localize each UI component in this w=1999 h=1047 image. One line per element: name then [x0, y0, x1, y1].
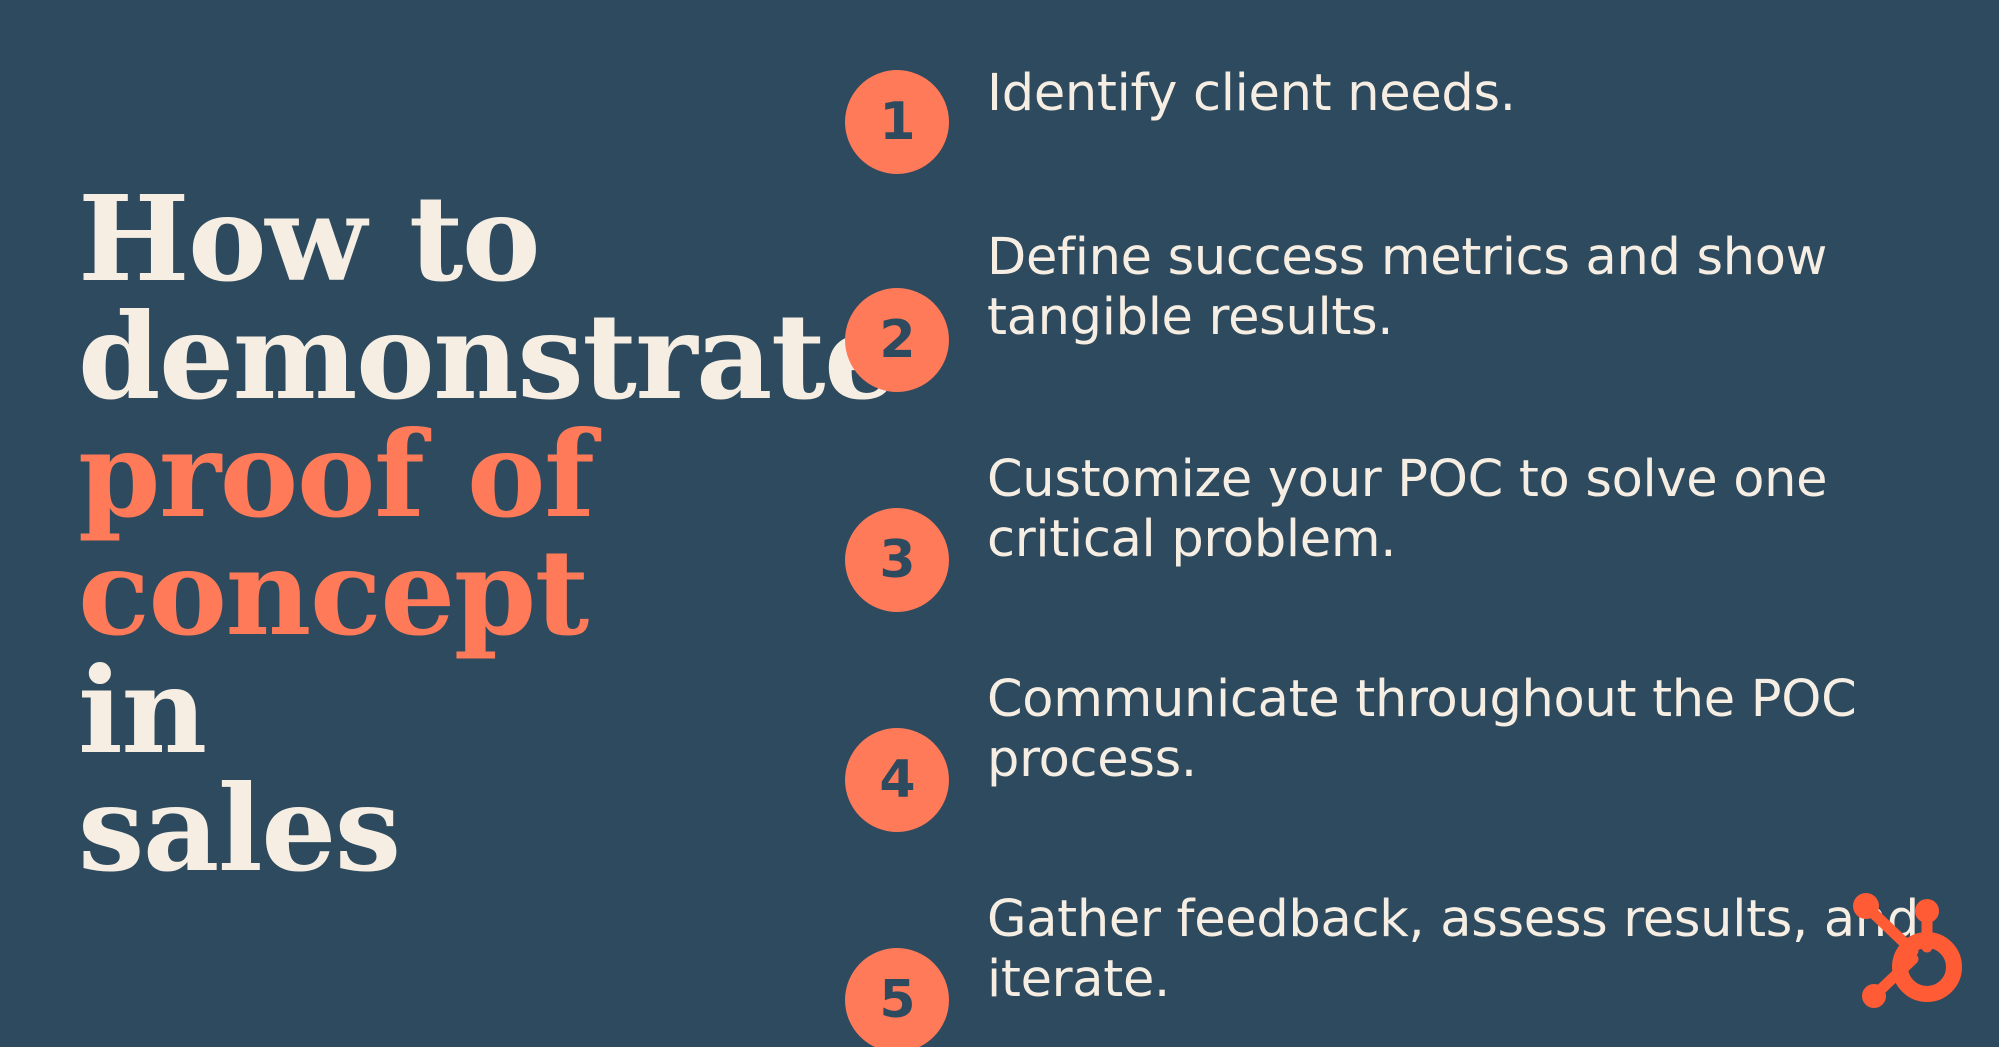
title-text: How to demonstrate proof of concept in s… [78, 180, 718, 888]
step-number-badge: 1 [845, 70, 949, 174]
step-number-badge: 5 [845, 948, 949, 1047]
step-text: Identify client needs. [949, 64, 1925, 124]
step-text: Customize your POC to solve one critical… [949, 448, 1925, 570]
list-item: 4 Communicate throughout the POC process… [845, 668, 1925, 832]
list-item: 3 Customize your POC to solve one critic… [845, 448, 1925, 612]
step-text: Gather feedback, assess results, and ite… [949, 888, 1925, 1010]
list-item: 2 Define success metrics and show tangib… [845, 226, 1925, 392]
page-title: How to demonstrate proof of concept in s… [78, 180, 718, 888]
infographic-slide: How to demonstrate proof of concept in s… [0, 0, 1999, 1047]
step-text: Define success metrics and show tangible… [949, 226, 1925, 348]
step-number-badge: 4 [845, 728, 949, 832]
title-line-4: sales [78, 759, 400, 898]
step-number-badge: 3 [845, 508, 949, 612]
list-item: 1 Identify client needs. [845, 64, 1925, 174]
list-item: 5 Gather feedback, assess results, and i… [845, 888, 1925, 1047]
step-text: Communicate throughout the POC process. [949, 668, 1925, 790]
hubspot-sprocket-logo [1851, 891, 1971, 1011]
steps-list: 1 Identify client needs. 2 Define succes… [845, 64, 1925, 1047]
step-number-badge: 2 [845, 288, 949, 392]
